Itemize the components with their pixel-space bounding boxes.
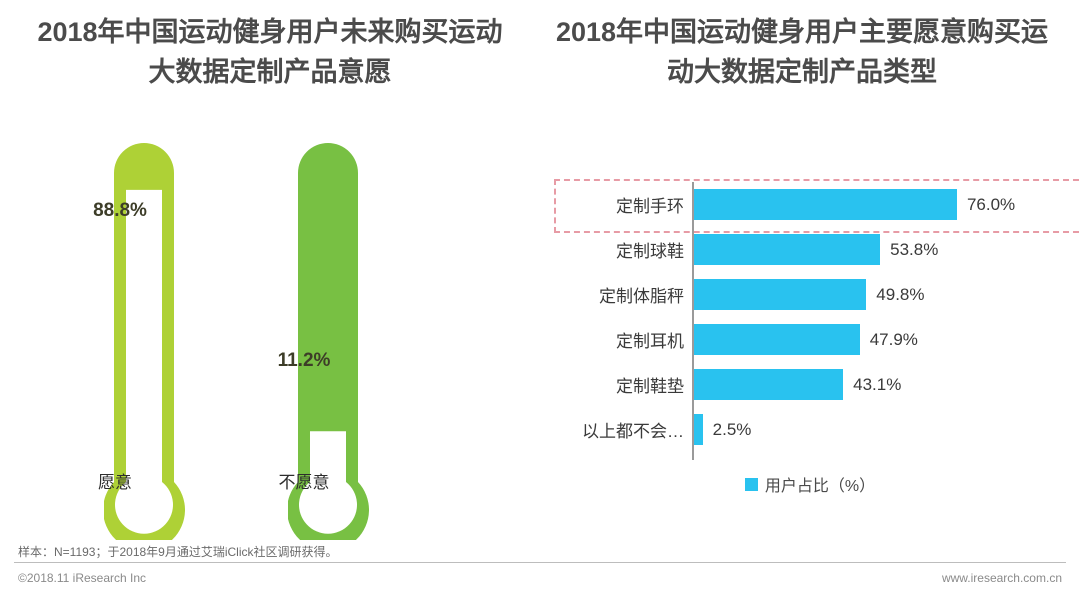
thermometer-chart: 88.8%愿意11.2%不愿意: [0, 120, 520, 520]
bar-row: 定制耳机47.9%: [540, 317, 1080, 362]
bar-row: 以上都不会…2.5%: [540, 407, 1080, 452]
footer-divider: [14, 562, 1066, 563]
bar-category-label: 定制体脂秤: [540, 272, 684, 317]
page-title-left: 2018年中国运动健身用户未来购买运动大数据定制产品意愿: [30, 12, 510, 92]
sample-note: 样本：N=1193；于2018年9月通过艾瑞iClick社区调研获得。: [18, 543, 338, 560]
bar-value-label: 53.8%: [890, 227, 938, 272]
bar-rect: [694, 369, 843, 400]
bar-rect: [694, 324, 860, 355]
bar-value-label: 43.1%: [853, 362, 901, 407]
bar-value-label: 2.5%: [713, 407, 752, 452]
bar-row: 定制手环76.0%: [540, 182, 1080, 227]
horizontal-bar-chart: 定制手环76.0%定制球鞋53.8%定制体脂秤49.8%定制耳机47.9%定制鞋…: [540, 160, 1080, 530]
bar-value-label: 49.8%: [876, 272, 924, 317]
bar-rect: [694, 234, 880, 265]
legend-swatch-icon: [745, 478, 758, 491]
thermometer-value-2: 11.2%: [250, 350, 358, 372]
bar-value-label: 76.0%: [967, 182, 1015, 227]
bar-row: 定制鞋垫43.1%: [540, 362, 1080, 407]
bar-rect: [694, 414, 703, 445]
bar-row: 定制球鞋53.8%: [540, 227, 1080, 272]
slide-canvas: 2018年中国运动健身用户未来购买运动大数据定制产品意愿 2018年中国运动健身…: [0, 0, 1080, 600]
copyright-text: ©2018.11 iResearch Inc: [18, 571, 146, 585]
chart-legend: 用户占比（%）: [540, 472, 1080, 496]
bar-rect: [694, 189, 957, 220]
bar-category-label: 定制鞋垫: [540, 362, 684, 407]
page-title-right: 2018年中国运动健身用户主要愿意购买运动大数据定制产品类型: [552, 12, 1052, 92]
bar-rect: [694, 279, 866, 310]
legend-label: 用户占比（%）: [765, 472, 875, 496]
website-url: www.iresearch.com.cn: [942, 571, 1062, 585]
thermometer-label-1: 愿意: [74, 468, 156, 493]
bar-category-label: 定制手环: [540, 182, 684, 227]
bar-category-label: 以上都不会…: [540, 407, 684, 452]
thermometer-value-1: 88.8%: [66, 200, 174, 222]
bar-value-label: 47.9%: [870, 317, 918, 362]
bar-row: 定制体脂秤49.8%: [540, 272, 1080, 317]
thermometer-label-2: 不愿意: [249, 468, 359, 493]
bar-category-label: 定制耳机: [540, 317, 684, 362]
bar-category-label: 定制球鞋: [540, 227, 684, 272]
